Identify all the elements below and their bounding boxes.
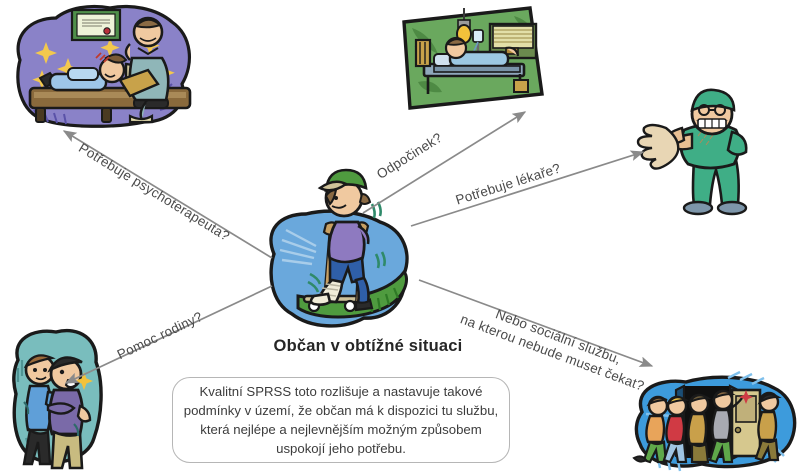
arrow-label-psychotherapist: Potřebuje psychoterapeuta? <box>76 140 232 244</box>
arrow-label-family: Pomoc rodiny? <box>115 309 205 362</box>
illustration-family-argument-scene <box>4 320 116 470</box>
note-text: Kvalitní SPRSS toto rozlišuje a nastavuj… <box>173 382 509 459</box>
diploma-icon <box>72 10 120 40</box>
arrow-doctor <box>411 152 643 226</box>
illustration-hospital-bed-rest-scene <box>394 4 546 114</box>
illustration-surgeon-with-glove <box>636 88 788 220</box>
note-box: Kvalitní SPRSS toto rozlišuje a nastavuj… <box>172 377 510 463</box>
diagram-canvas: Potřebuje psychoterapeuta? Odpočinek? Po… <box>0 0 800 474</box>
page-title: Občan v obtížné situaci <box>238 337 498 356</box>
illustration-boy-with-crutches-leg-cast-on-skateboard <box>258 168 416 336</box>
illustration-psychotherapist-couch-scene <box>6 2 196 130</box>
arrow-label-doctor: Potřebuje lékaře? <box>454 161 563 208</box>
